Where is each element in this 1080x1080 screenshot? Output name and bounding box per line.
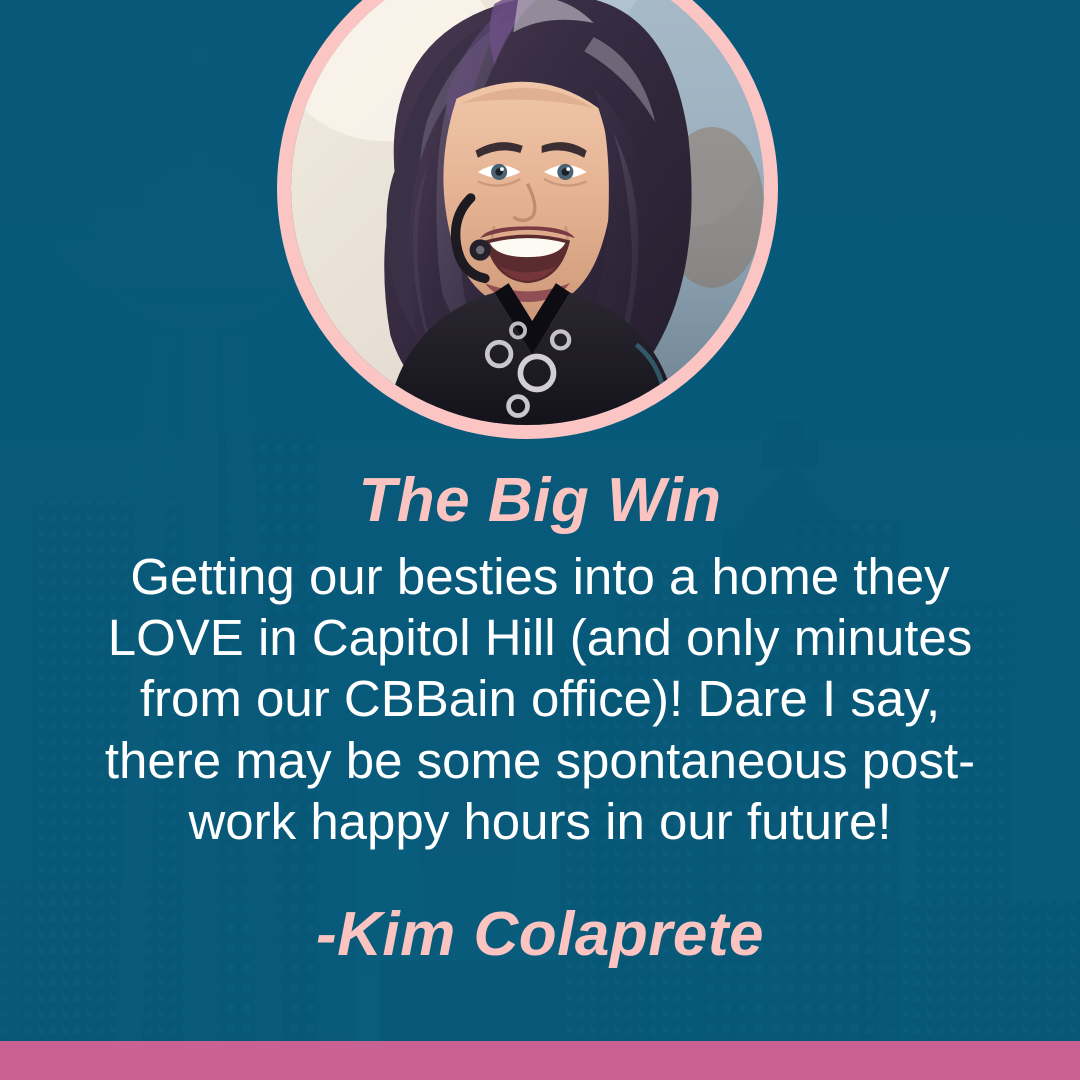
avatar: [291, 0, 764, 425]
quote-line: Getting our besties into a home they: [58, 546, 1022, 607]
quote-line: from our CBBain office)! Dare I say,: [58, 668, 1022, 729]
page-title: The Big Win: [40, 470, 1040, 532]
quote-attribution: -Kim Colaprete: [40, 904, 1040, 966]
quote-line: LOVE in Capitol Hill (and only minutes: [58, 607, 1022, 668]
quote-line: work happy hours in our future!: [58, 791, 1022, 852]
testimonial-graphic: The Big Win Getting our besties into a h…: [0, 0, 1080, 1080]
bottom-accent-bar: [0, 1041, 1080, 1080]
quote-line: there may be some spontaneous post-: [58, 730, 1022, 791]
quote-text: Getting our besties into a home they LOV…: [40, 546, 1040, 852]
portrait-ring: [277, 0, 778, 439]
testimonial-content: The Big Win Getting our besties into a h…: [0, 470, 1080, 966]
